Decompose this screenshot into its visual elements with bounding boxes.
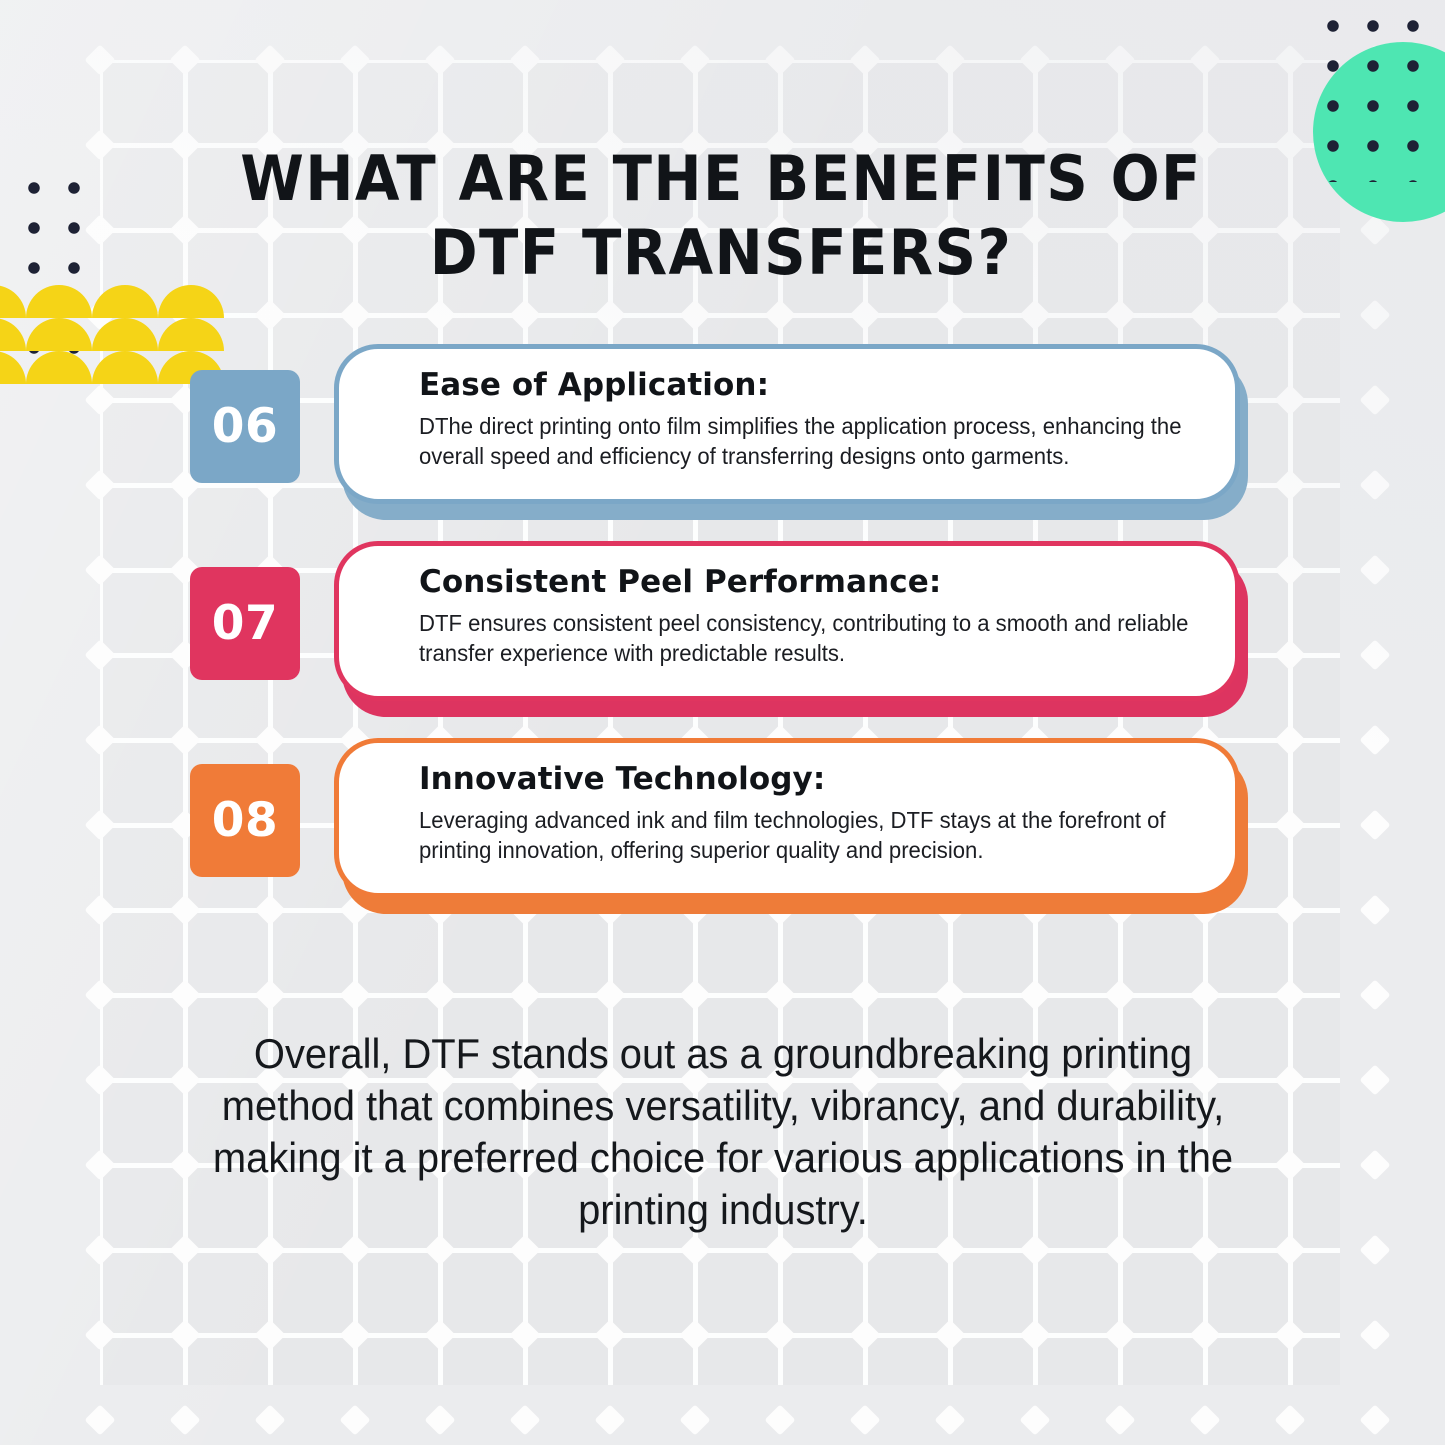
grid-diamond-icon [1359, 299, 1390, 330]
grid-diamond-icon [1359, 1319, 1390, 1350]
grid-diamond-icon [934, 1404, 965, 1435]
grid-diamond-icon [1359, 1064, 1390, 1095]
grid-diamond-icon [339, 1404, 370, 1435]
benefit-card[interactable]: Consistent Peel Performance: DTF ensures… [334, 541, 1240, 701]
grid-diamond-icon [254, 1404, 285, 1435]
grid-diamond-icon [509, 1404, 540, 1435]
grid-diamond-icon [1104, 1404, 1135, 1435]
infographic-poster: WHAT ARE THE BENEFITS OF DTF TRANSFERS? … [0, 0, 1445, 1445]
benefit-number-badge: 07 [190, 567, 300, 680]
benefit-card-wrapper: Ease of Application: DThe direct printin… [334, 344, 1240, 504]
benefit-row: 08 Innovative Technology: Leveraging adv… [0, 732, 1445, 907]
grid-diamond-icon [849, 1404, 880, 1435]
benefit-row: 07 Consistent Peel Performance: DTF ensu… [0, 535, 1445, 710]
grid-diamond-icon [764, 1404, 795, 1435]
grid-diamond-icon [1359, 979, 1390, 1010]
grid-diamond-icon [1359, 1149, 1390, 1180]
grid-diamond-icon [679, 1404, 710, 1435]
benefit-card-wrapper: Consistent Peel Performance: DTF ensures… [334, 541, 1240, 701]
grid-diamond-icon [1274, 1404, 1305, 1435]
grid-diamond-icon [1189, 1404, 1220, 1435]
benefit-number-badge: 08 [190, 764, 300, 877]
grid-diamond-icon [169, 1404, 200, 1435]
dot-pattern-top-right-icon [1313, 6, 1441, 182]
benefit-card-title: Innovative Technology: [419, 759, 1201, 799]
benefit-card-body: DThe direct printing onto film simplifie… [419, 411, 1198, 471]
grid-diamond-icon [1359, 1234, 1390, 1265]
benefit-card[interactable]: Ease of Application: DThe direct printin… [334, 344, 1240, 504]
grid-diamond-icon [594, 1404, 625, 1435]
benefit-card-body: Leveraging advanced ink and film technol… [419, 805, 1198, 865]
benefit-card-title: Consistent Peel Performance: [419, 562, 1201, 602]
closing-paragraph: Overall, DTF stands out as a groundbreak… [205, 1028, 1241, 1236]
benefit-row: 06 Ease of Application: DThe direct prin… [0, 338, 1445, 513]
benefit-card-wrapper: Innovative Technology: Leveraging advanc… [334, 738, 1240, 898]
benefit-card[interactable]: Innovative Technology: Leveraging advanc… [334, 738, 1240, 898]
grid-diamond-icon [1359, 1404, 1390, 1435]
benefit-card-body: DTF ensures consistent peel consistency,… [419, 608, 1198, 668]
semicircle-icon [92, 285, 158, 318]
semicircle-row [0, 285, 150, 318]
grid-diamond-icon [1019, 1404, 1050, 1435]
grid-diamond-icon [424, 1404, 455, 1435]
semicircle-icon [0, 285, 26, 318]
benefit-number-badge: 06 [190, 370, 300, 483]
grid-diamond-icon [84, 1404, 115, 1435]
semicircle-icon [26, 285, 92, 318]
page-title: WHAT ARE THE BENEFITS OF DTF TRANSFERS? [214, 142, 1228, 290]
benefit-card-title: Ease of Application: [419, 365, 1201, 405]
